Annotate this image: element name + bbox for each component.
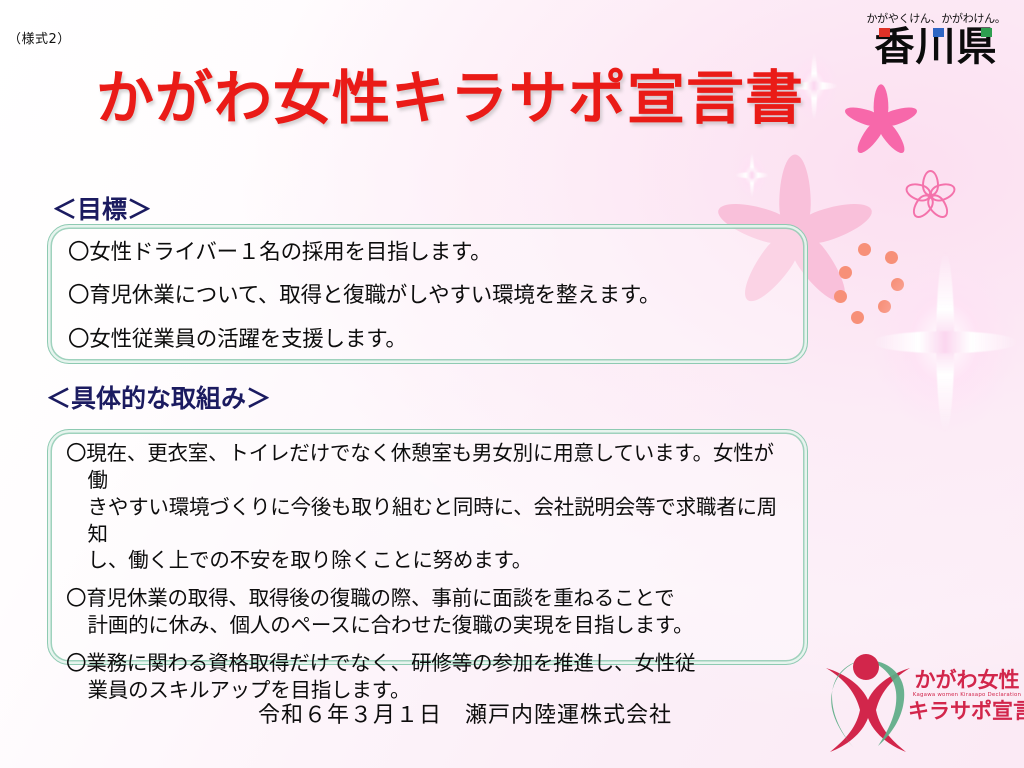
list-item: 〇女性ドライバー１名の採用を目指します。 [68,239,789,267]
declaration-page: （様式2） かがやくけん、かがわけん。 香川県 かがわ女性キラサポ宣言書 ＜目標… [0,0,1024,768]
list-item: 〇現在、更衣室、トイレだけでなく休憩室も男女別に用意しています。女性が働 きやす… [66,440,791,574]
actions-list: 〇現在、更衣室、トイレだけでなく休憩室も男女別に用意しています。女性が働 きやす… [48,430,807,715]
section-heading-actions: ＜具体的な取組み＞ [46,379,271,415]
kirasapo-romaji: Kagawa women Kirasapo Declaration [905,693,1024,698]
goal-list: 〇女性ドライバー１名の採用を目指します。 〇育児休業について、取得と復職がしやす… [48,225,807,369]
form-number-label: （様式2） [8,28,71,47]
sparkle-tiny-icon [735,152,769,198]
prefecture-mark-red [879,28,890,37]
prefecture-mark-green [981,28,992,37]
prefecture-mark-blue [933,28,944,37]
list-item: 〇育児休業の取得、取得後の復職の際、事前に面談を重ねることで 計画的に休み、個人… [66,585,791,639]
list-item: 〇育児休業について、取得と復職がしやすい環境を整えます。 [68,282,789,310]
list-item: 〇女性従業員の活躍を支援します。 [68,326,789,354]
footer-date-company: 令和６年３月１日 瀬戸内陸運株式会社 [0,697,930,729]
page-title: かがわ女性キラサポ宣言書 [0,68,900,129]
section-heading-goal: ＜目標＞ [52,190,152,226]
goal-box: 〇女性ドライバー１名の採用を目指します。 〇育児休業について、取得と復職がしやす… [47,224,808,364]
prefecture-name-wrap: 香川県 [875,27,998,67]
list-item: 〇業務に関わる資格取得だけでなく、研修等の参加を推進し、女性従 業員のスキルアッ… [66,650,791,704]
sparkle-large-icon [872,252,1018,432]
kirasapo-line-1: かがわ女性 [908,668,1024,692]
kirasapo-declaration-logo: かがわ女性 Kagawa women Kirasapo Declaration … [812,652,1024,762]
kirasapo-line-2: キラサポ宣言 [908,699,1024,723]
kagawa-prefecture-logo: かがやくけん、かがわけん。 香川県 [856,10,1016,67]
kirasapo-figure-icon [816,654,912,758]
kirasapo-logo-text: かがわ女性 Kagawa women Kirasapo Declaration … [908,668,1024,723]
actions-box: 〇現在、更衣室、トイレだけでなく休憩室も男女別に用意しています。女性が働 きやす… [47,429,808,665]
